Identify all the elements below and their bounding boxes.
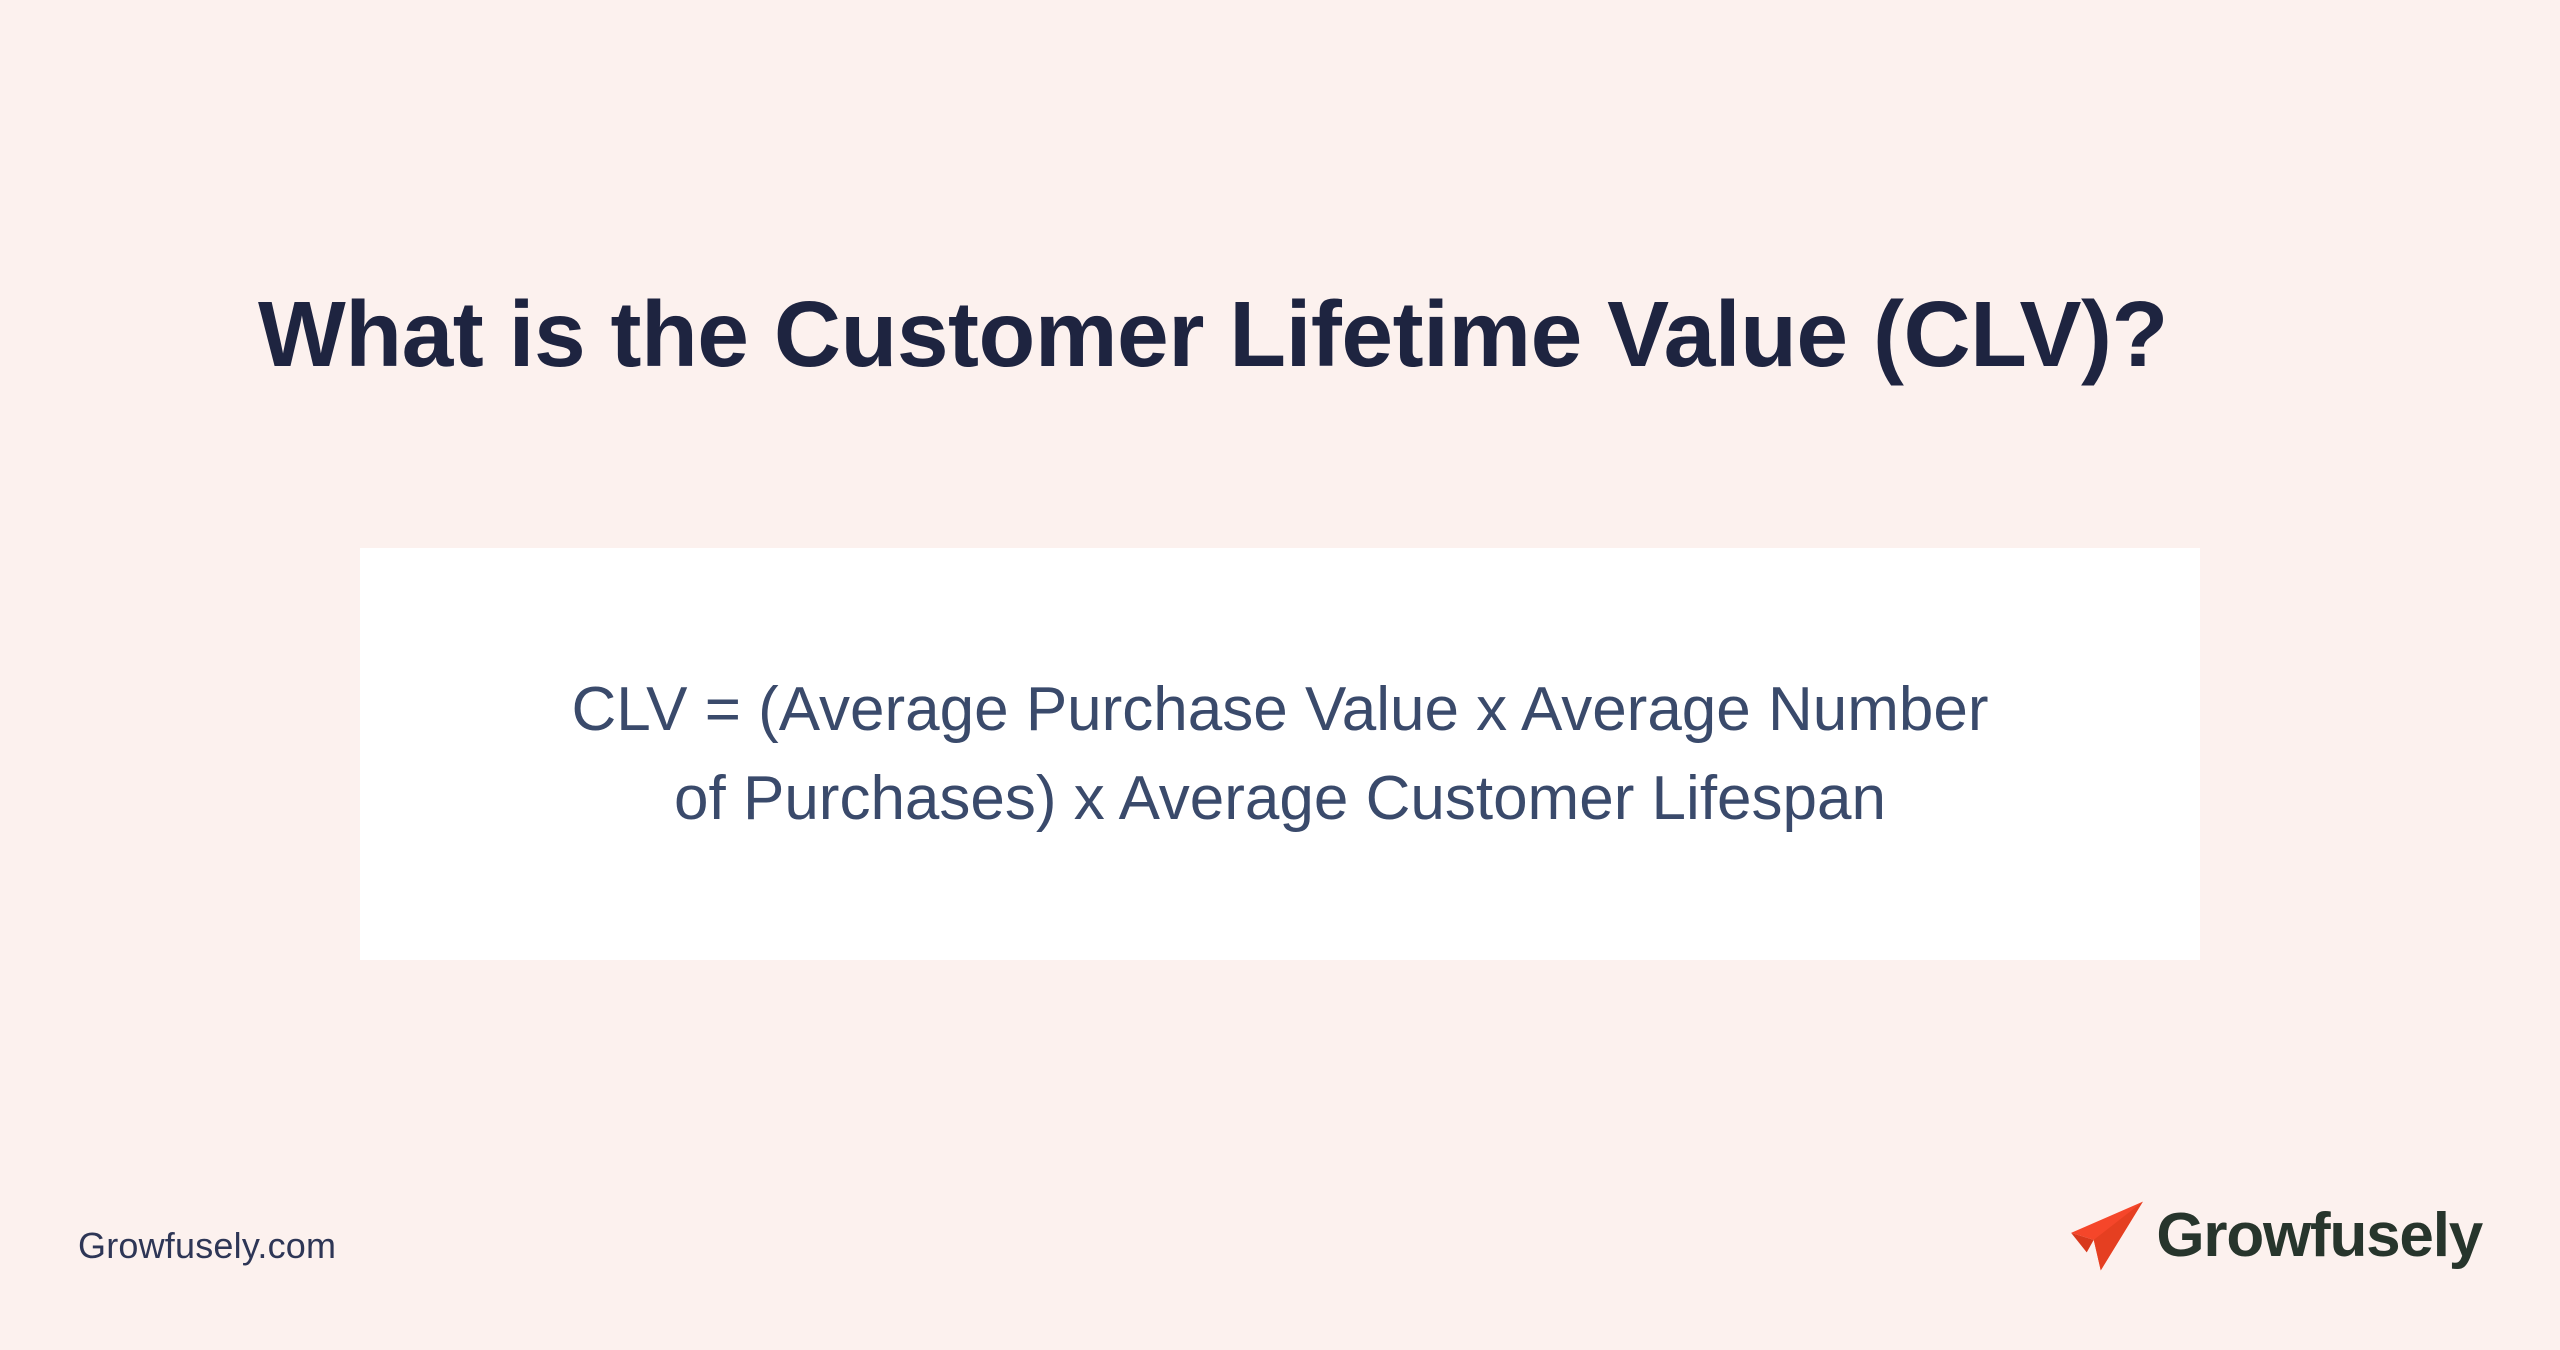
formula-text: CLV = (Average Purchase Value x Average … [460, 665, 2100, 843]
page-title: What is the Customer Lifetime Value (CLV… [258, 282, 2358, 386]
brand-wordmark: Growfusely [2156, 1200, 2482, 1272]
brand-logo: Growfusely [2068, 1188, 2482, 1284]
formula-line-1: CLV = (Average Purchase Value x Average … [460, 665, 2100, 754]
paper-plane-icon [2068, 1197, 2146, 1275]
slide-canvas: What is the Customer Lifetime Value (CLV… [0, 0, 2560, 1350]
formula-card: CLV = (Average Purchase Value x Average … [360, 548, 2200, 960]
formula-line-2: of Purchases) x Average Customer Lifespa… [460, 754, 2100, 843]
footer-website-url: Growfusely.com [78, 1222, 336, 1270]
